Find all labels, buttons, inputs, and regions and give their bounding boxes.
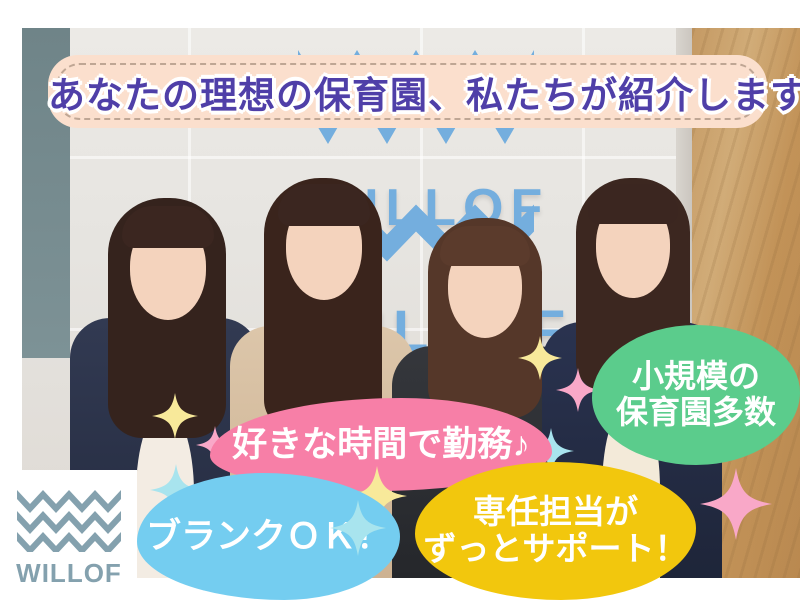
sparkle-pink-right xyxy=(700,468,772,540)
sparkle-cyan-mid xyxy=(330,500,386,556)
willof-logo-box: WILLOF xyxy=(0,470,137,600)
person-1-bangs xyxy=(122,206,214,248)
bubble-green-line1: 小規模の xyxy=(632,358,760,394)
headline-text: あなたの理想の保育園、私たちが紹介します！ xyxy=(48,65,767,119)
sparkle-yellow-left xyxy=(152,393,198,439)
bubble-yellow-line1: 専任担当が xyxy=(473,493,638,530)
bubble-yellow: 専任担当が ずっとサポート！ xyxy=(415,462,696,600)
bubble-green: 小規模の 保育園多数 xyxy=(592,325,800,465)
bubble-green-text: 小規模の 保育園多数 xyxy=(616,359,776,431)
bubble-yellow-line2: ずっとサポート！ xyxy=(424,530,688,567)
bubble-yellow-text: 専任担当が ずっとサポート！ xyxy=(424,494,688,568)
person-3-bangs xyxy=(440,226,530,266)
willof-wordmark: WILLOF xyxy=(14,558,124,589)
person-4-bangs xyxy=(588,184,678,224)
person-2-bangs xyxy=(278,184,370,226)
headline-banner: あなたの理想の保育園、私たちが紹介します！ xyxy=(48,55,767,128)
bubble-green-line2: 保育園多数 xyxy=(616,394,776,430)
willof-zigzag-icon xyxy=(17,488,121,552)
bubble-pink-text: 好きな時間で勤務♪ xyxy=(232,425,530,464)
advertisement-banner: WILLOF WILLOF xyxy=(0,0,800,600)
